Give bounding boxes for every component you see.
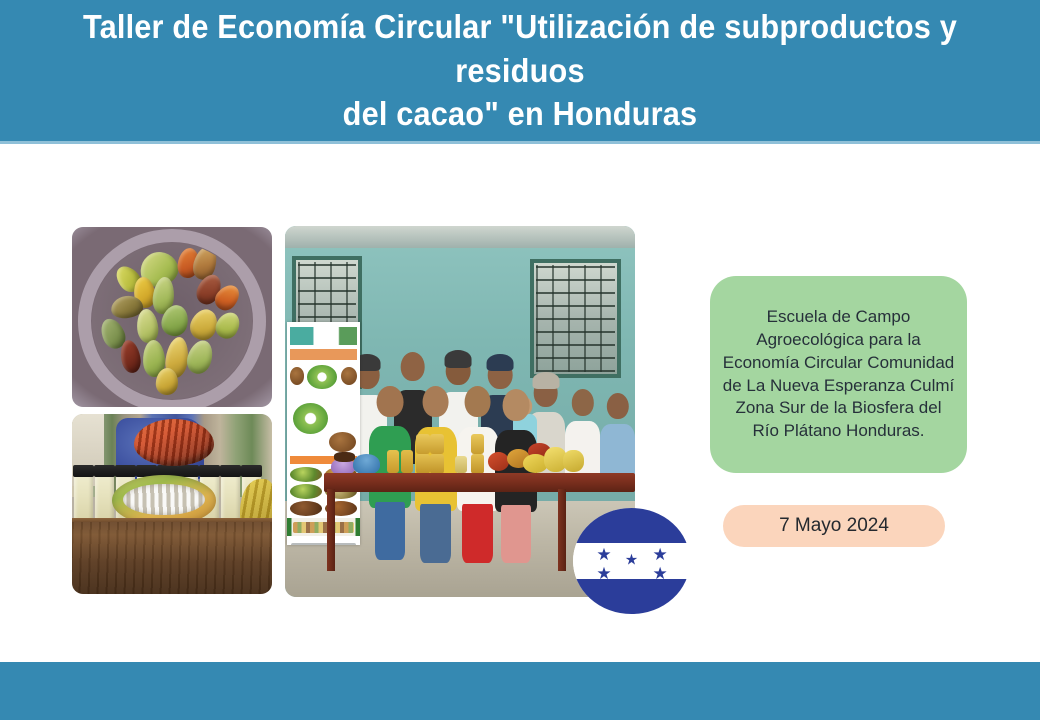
flag-star: ★ [653,546,668,563]
participant-head [503,389,530,421]
page-title: Taller de Economía Circular "Utilización… [55,5,985,136]
banner-photo [290,484,322,499]
flag-bottom-stripe [573,579,690,614]
header-bar: Taller de Economía Circular "Utilización… [0,0,1040,141]
product-jar [471,454,484,474]
jar-scene [72,414,272,594]
participant-legs [462,504,492,563]
slide-canvas: Taller de Economía Circular "Utilización… [0,0,1040,720]
participant-legs [501,505,531,563]
info-card-text: Escuela de Campo Agroecológica para la E… [722,306,955,443]
honduras-flag-icon: ★ ★ ★ ★ ★ [573,508,690,614]
product-jar [401,450,414,473]
banner-heading-band [290,349,358,360]
banner-footer-band [287,518,361,536]
participant-head [400,352,425,381]
participant-head [571,389,593,415]
product-jar [455,456,467,473]
footer-bar [0,662,1040,720]
banner-circular-diagram [307,365,336,389]
participant-cap [532,372,559,389]
product-jar [387,450,400,473]
participant [600,393,635,523]
flag-star: ★ [625,552,638,567]
barred-window [530,259,621,378]
participant-head [606,393,628,419]
banner-photo [290,467,322,482]
product-jar [430,434,443,454]
participant-head [422,386,449,418]
product-jar [416,454,429,474]
participant-cap [487,354,514,372]
banner-logo [290,327,358,345]
info-card: Escuela de Campo Agroecológica para la E… [710,276,967,473]
participant-legs [375,502,405,560]
photo-cacao-pods [72,227,272,407]
flag-top-stripe [573,508,690,543]
banana-bunch [563,450,584,472]
flag-star: ★ [596,546,611,563]
pulp-jar [221,475,240,522]
cacao-nibs-tray [334,452,355,462]
roof-eave [285,226,635,248]
table-leg [327,489,335,571]
blue-bowl [353,454,379,474]
banner-photo [290,501,322,516]
banner-photo [290,367,305,385]
date-badge-text: 7 Mayo 2024 [779,515,889,537]
wooden-table [72,522,272,594]
header-underline [0,141,1040,144]
banner-circular-diagram [293,403,328,434]
roll-up-banner [287,322,361,545]
product-jar [430,454,443,474]
table-leg [558,489,566,571]
product-jar [471,434,484,454]
flag-star: ★ [653,565,668,582]
bowl-rim [78,229,266,407]
pulp-jar [95,475,114,522]
banner-stand [291,543,356,545]
red-cacao-pod [134,419,214,466]
participant-head [464,386,491,418]
participant-legs [420,504,450,563]
banner-photo [341,367,357,385]
flag-star: ★ [596,565,611,582]
product-jar [416,434,429,454]
product-display-table [324,473,636,492]
date-badge: 7 Mayo 2024 [723,505,945,547]
participant-cap [445,350,472,368]
participant-head [377,386,404,418]
pulp-jar [74,475,93,522]
banner-photo [329,432,355,452]
photo-cut-cacao-jars [72,414,272,594]
cacao-pod-fruit [488,452,509,471]
